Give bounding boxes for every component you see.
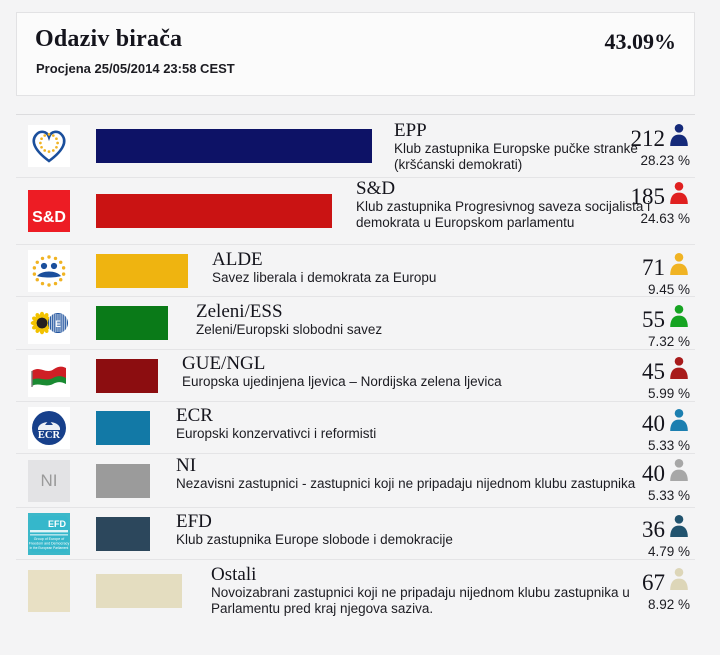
party-logo-cell: E [22, 297, 76, 349]
seat-count: 67 [642, 570, 665, 596]
efd-square-logo: EFD Group of Europe of Freedom and Democ… [28, 513, 70, 555]
seat-percentage: 9.45 % [648, 282, 690, 297]
seat-bar [96, 411, 150, 445]
guengl-flag-logo [28, 355, 70, 397]
seat-count-cell: 455.99 % [609, 350, 693, 401]
party-logo-cell [22, 245, 76, 296]
svg-text:in the European Parliament: in the European Parliament [30, 546, 69, 550]
party-name: Ostali [211, 565, 656, 585]
seat-percentage: 4.79 % [648, 544, 690, 559]
sd-square-logo: S&D [28, 190, 70, 232]
party-row[interactable]: NININezavisni zastupnici - zastupnici ko… [16, 453, 695, 507]
seat-percentage: 8.92 % [648, 597, 690, 612]
party-description: Klub zastupnika Europe slobode i demokra… [176, 532, 656, 548]
svg-text:E: E [55, 319, 61, 329]
seat-bar [96, 129, 372, 163]
seat-percentage: 24.63 % [640, 211, 690, 226]
party-logo-cell: ECR [22, 402, 76, 453]
party-row[interactable]: OstaliNovoizabrani zastupnici koji ne pr… [16, 559, 695, 621]
person-icon [668, 123, 690, 147]
seat-percentage: 5.33 % [648, 488, 690, 503]
party-name: ECR [176, 406, 656, 426]
seat-bar [96, 254, 188, 288]
person-icon [668, 304, 690, 328]
seat-bar [96, 574, 182, 608]
person-icon [668, 252, 690, 276]
alde-stars-logo [28, 250, 70, 292]
party-info: NINezavisni zastupnici - zastupnici koji… [176, 456, 656, 492]
seat-bar [96, 464, 150, 498]
party-info: ECREuropski konzervativci i reformisti [176, 406, 656, 442]
party-logo-cell: NI [22, 454, 76, 507]
seat-count: 55 [642, 307, 665, 333]
turnout-estimate-timestamp: Procjena 25/05/2014 23:58 CEST [36, 61, 235, 76]
party-logo-cell: EFD Group of Europe of Freedom and Democ… [22, 508, 76, 559]
svg-text:EFD: EFD [48, 519, 67, 529]
seat-count-cell: 21228.23 % [609, 115, 693, 177]
turnout-percentage: 43.09% [605, 29, 677, 55]
person-icon [668, 181, 690, 205]
party-description: Novoizabrani zastupnici koji ne pripadaj… [211, 585, 656, 617]
party-results-list: EPPKlub zastupnika Europske pučke strank… [16, 114, 695, 621]
party-info: Zeleni/ESSZeleni/Europski slobodni savez [196, 302, 656, 338]
party-row[interactable]: EFD Group of Europe of Freedom and Democ… [16, 507, 695, 559]
seat-percentage: 5.33 % [648, 438, 690, 453]
seat-bar [96, 517, 150, 551]
party-logo-cell [22, 560, 76, 621]
svg-text:Freedom and Democracy: Freedom and Democracy [29, 541, 70, 545]
party-description: Nezavisni zastupnici - zastupnici koji n… [176, 476, 656, 492]
person-icon [668, 567, 690, 591]
seat-count-cell: 405.33 % [609, 402, 693, 453]
party-description: Europska ujedinjena ljevica – Nordijska … [182, 374, 656, 390]
seat-count-cell: 18524.63 % [609, 178, 693, 244]
seat-count-cell: 678.92 % [609, 560, 693, 621]
seat-count: 212 [631, 126, 666, 152]
voter-turnout-panel: Odaziv birača 43.09% Procjena 25/05/2014… [16, 12, 695, 96]
party-row[interactable]: E Zeleni/ESSZeleni/Europski slobodni sav… [16, 296, 695, 349]
party-logo-cell [22, 350, 76, 401]
seat-percentage: 28.23 % [640, 153, 690, 168]
seat-bar [96, 194, 332, 228]
seat-percentage: 5.99 % [648, 386, 690, 401]
party-description: Europski konzervativci i reformisti [176, 426, 656, 442]
party-logo-cell: S&D [22, 178, 76, 244]
party-description: Zeleni/Europski slobodni savez [196, 322, 656, 338]
ostali-blank-logo [28, 570, 70, 612]
party-logo-cell [22, 115, 76, 177]
seat-count: 36 [642, 517, 665, 543]
seat-bar [96, 306, 168, 340]
seat-count: 71 [642, 255, 665, 281]
person-icon [668, 458, 690, 482]
seat-count-cell: 557.32 % [609, 297, 693, 349]
party-row[interactable]: EPPKlub zastupnika Europske pučke strank… [16, 114, 695, 177]
party-row[interactable]: S&DS&DKlub zastupnika Progresivnog savez… [16, 177, 695, 244]
person-icon [668, 514, 690, 538]
person-icon [668, 408, 690, 432]
seat-count-cell: 405.33 % [609, 454, 693, 507]
party-name: GUE/NGL [182, 354, 656, 374]
svg-text:Group of Europe of: Group of Europe of [34, 537, 65, 541]
seat-bar [96, 359, 158, 393]
seat-count: 45 [642, 359, 665, 385]
party-row[interactable]: ECR ECREuropski konzervativci i reformis… [16, 401, 695, 453]
party-info: GUE/NGLEuropska ujedinjena ljevica – Nor… [182, 354, 656, 390]
person-icon [668, 356, 690, 380]
party-info: ALDESavez liberala i demokrata za Europu [212, 250, 656, 286]
party-row[interactable]: ALDESavez liberala i demokrata za Europu… [16, 244, 695, 296]
seat-count-cell: 719.45 % [609, 245, 693, 296]
party-info: OstaliNovoizabrani zastupnici koji ne pr… [211, 565, 656, 617]
party-info: EFDKlub zastupnika Europe slobode i demo… [176, 512, 656, 548]
page-title: Odaziv birača [35, 26, 182, 53]
seat-count: 185 [631, 184, 666, 210]
epp-heart-logo [28, 125, 70, 167]
svg-text:ECR: ECR [38, 430, 61, 441]
seat-count-cell: 364.79 % [609, 508, 693, 559]
ecr-circle-logo: ECR [28, 407, 70, 449]
party-description: Savez liberala i demokrata za Europu [212, 270, 656, 286]
seat-percentage: 7.32 % [648, 334, 690, 349]
ni-square-logo: NI [28, 460, 70, 502]
seat-count: 40 [642, 461, 665, 487]
party-name: EFD [176, 512, 656, 532]
party-row[interactable]: GUE/NGLEuropska ujedinjena ljevica – Nor… [16, 349, 695, 401]
party-name: NI [176, 456, 656, 476]
party-name: Zeleni/ESS [196, 302, 656, 322]
greens-sunflower-logo: E [28, 302, 70, 344]
seat-count: 40 [642, 411, 665, 437]
party-name: ALDE [212, 250, 656, 270]
